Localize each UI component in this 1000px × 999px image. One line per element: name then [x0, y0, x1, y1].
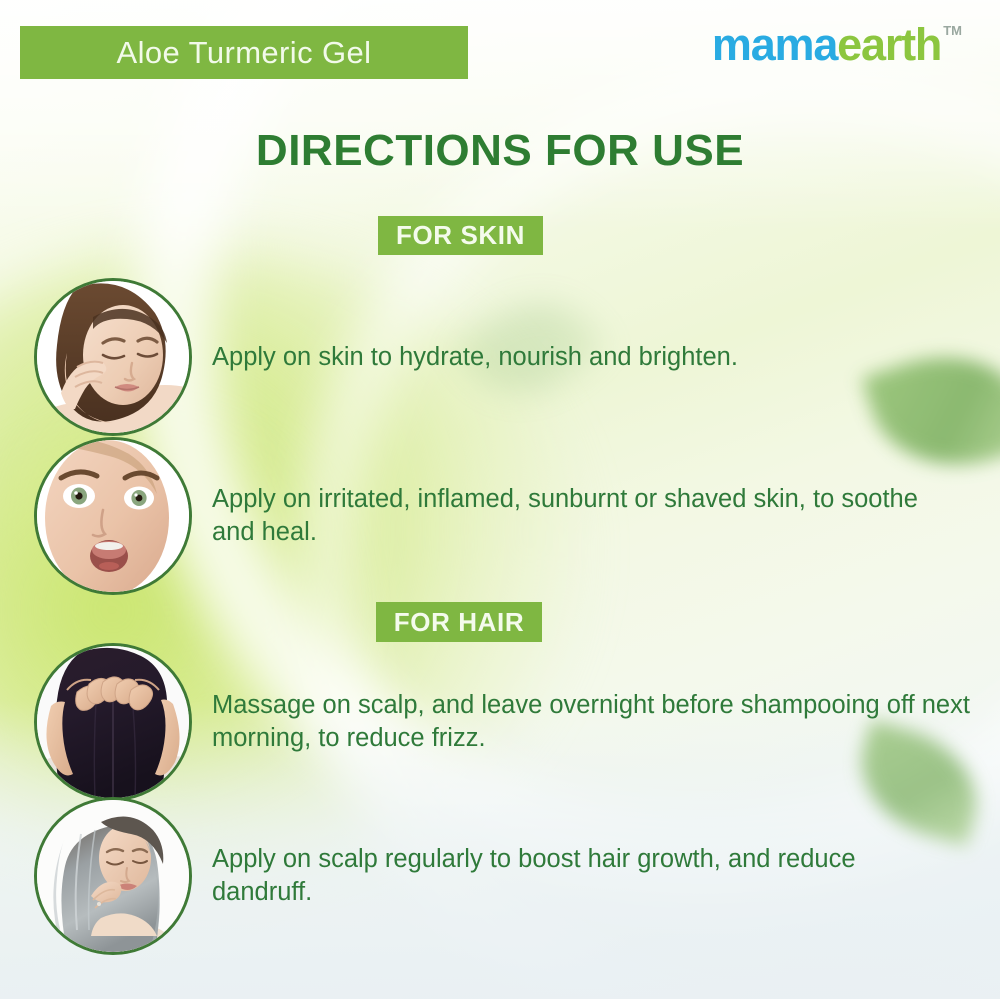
- brand-name-part-earth: earth: [837, 22, 941, 67]
- woman-massaging-scalp-photo: [34, 643, 192, 801]
- product-title-banner: Aloe Turmeric Gel: [20, 26, 468, 79]
- woman-long-hair-photo: [34, 797, 192, 955]
- section-badge-for-hair: FOR HAIR: [376, 602, 542, 642]
- instruction-text: Massage on scalp, and leave overnight be…: [212, 689, 992, 754]
- trademark-icon: TM: [943, 24, 962, 37]
- instruction-text: Apply on scalp regularly to boost hair g…: [212, 843, 952, 908]
- instruction-row: Apply on scalp regularly to boost hair g…: [34, 797, 952, 955]
- section-badge-label: FOR HAIR: [394, 607, 524, 638]
- instruction-row: Massage on scalp, and leave overnight be…: [34, 643, 992, 801]
- instruction-text: Apply on irritated, inflamed, sunburnt o…: [212, 483, 957, 548]
- mamaearth-logo: mamaearthTM: [712, 22, 962, 67]
- instruction-row: Apply on skin to hydrate, nourish and br…: [34, 278, 738, 436]
- instruction-row: Apply on irritated, inflamed, sunburnt o…: [34, 437, 957, 595]
- instruction-text: Apply on skin to hydrate, nourish and br…: [212, 341, 738, 374]
- woman-touching-face-photo: [34, 278, 192, 436]
- brand-name-part-mama: mama: [712, 22, 837, 67]
- page-title: DIRECTIONS FOR USE: [0, 126, 1000, 176]
- product-title-text: Aloe Turmeric Gel: [117, 35, 372, 71]
- directions-for-use-poster: Aloe Turmeric Gel mamaearthTM DIRECTIONS…: [0, 0, 1000, 999]
- section-badge-for-skin: FOR SKIN: [378, 216, 543, 255]
- woman-surprised-face-photo: [34, 437, 192, 595]
- section-badge-label: FOR SKIN: [396, 220, 525, 251]
